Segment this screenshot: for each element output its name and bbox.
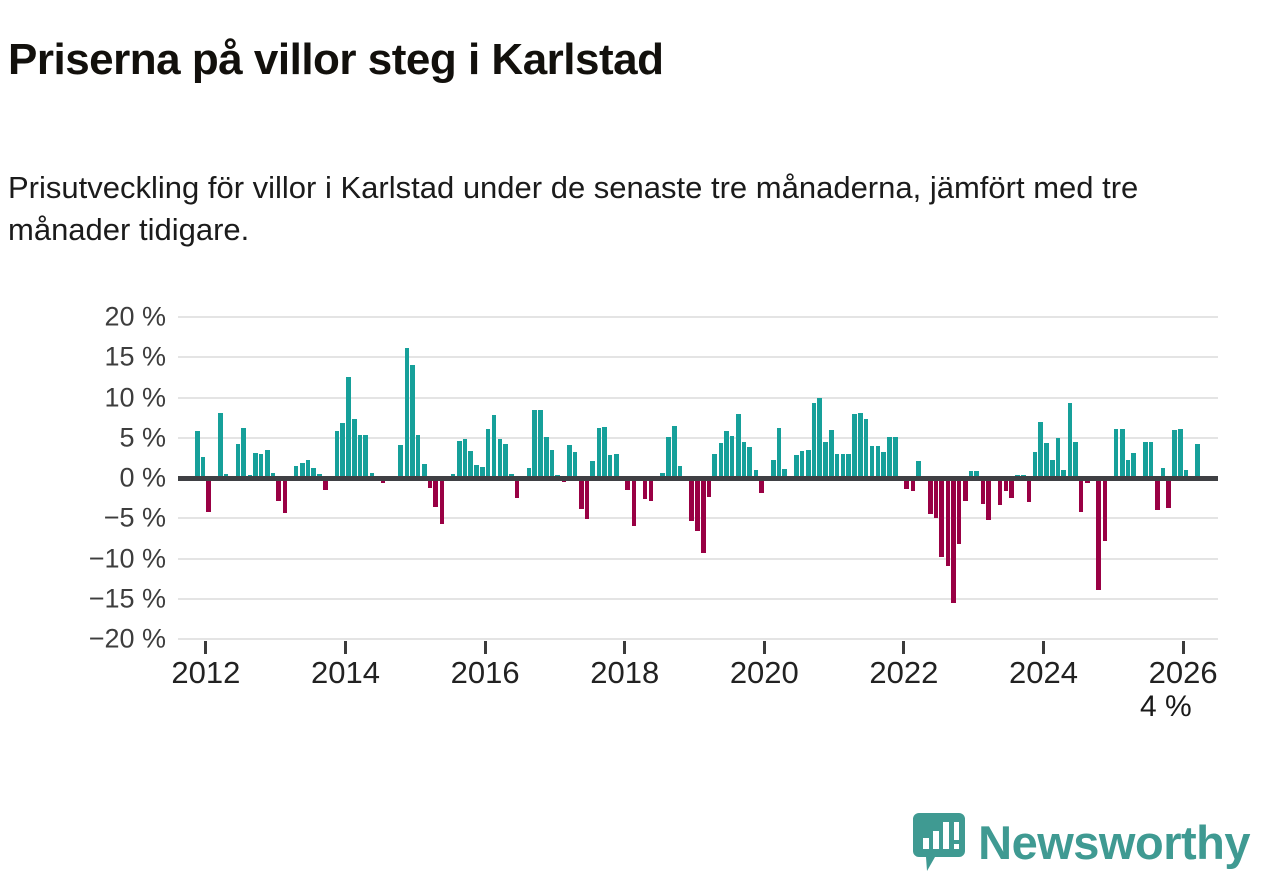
- bar: [486, 429, 491, 478]
- bar: [544, 437, 549, 478]
- bar: [1033, 452, 1038, 478]
- bar: [742, 442, 747, 478]
- bar: [666, 437, 671, 478]
- bar: [433, 478, 438, 507]
- bar: [986, 478, 991, 520]
- bar: [410, 365, 415, 478]
- bar: [934, 478, 939, 518]
- y-axis-tick-label: 0 %: [16, 463, 166, 494]
- bar: [416, 435, 421, 478]
- x-axis-tick: [344, 641, 347, 654]
- bar: [881, 452, 886, 478]
- bar: [398, 445, 403, 478]
- x-axis-tick-label: 2016: [425, 655, 545, 691]
- bar-chart-speech-bubble-icon: [913, 813, 965, 871]
- bar: [352, 419, 357, 478]
- bar: [602, 427, 607, 478]
- bar: [829, 430, 834, 478]
- bar: [463, 439, 468, 478]
- bar: [695, 478, 700, 531]
- bar: [981, 478, 986, 504]
- bar: [812, 403, 817, 478]
- x-axis-tick: [623, 641, 626, 654]
- y-axis-tick-label: −10 %: [16, 543, 166, 574]
- bar: [672, 426, 677, 478]
- plot-area: [178, 317, 1218, 639]
- bar: [1056, 438, 1061, 478]
- bar: [724, 431, 729, 478]
- x-axis-tick-label: 2012: [146, 655, 266, 691]
- x-axis-tick-label: 2020: [704, 655, 824, 691]
- last-value-annotation: 4 %: [1136, 690, 1196, 724]
- bar: [823, 442, 828, 478]
- bar: [405, 348, 410, 478]
- x-axis-tick-label: 2024: [984, 655, 1104, 691]
- x-axis-tick-label: 2014: [286, 655, 406, 691]
- zero-axis-line: [178, 476, 1218, 481]
- x-axis-tick-label: 2022: [844, 655, 964, 691]
- bar: [241, 428, 246, 478]
- bar: [253, 453, 258, 478]
- bar: [719, 443, 724, 478]
- bar: [800, 451, 805, 478]
- bar: [585, 478, 590, 519]
- bar: [876, 446, 881, 478]
- bar: [998, 478, 1003, 505]
- bar: [218, 413, 223, 478]
- bar: [649, 478, 654, 501]
- bar: [1079, 478, 1084, 512]
- y-axis-tick-label: −20 %: [16, 624, 166, 655]
- bar: [846, 454, 851, 478]
- bar: [363, 435, 368, 478]
- bar: [468, 451, 473, 478]
- bar: [806, 450, 811, 478]
- x-axis-tick: [484, 641, 487, 654]
- bar: [567, 445, 572, 478]
- bar: [206, 478, 211, 512]
- bar: [963, 478, 968, 501]
- bar: [276, 478, 281, 501]
- bar: [532, 410, 537, 478]
- page-title: Priserna på villor steg i Karlstad: [8, 35, 1188, 85]
- bar: [643, 478, 648, 499]
- bar: [538, 410, 543, 478]
- x-axis-tick: [204, 641, 207, 654]
- bar: [1120, 429, 1125, 478]
- bar: [1044, 443, 1049, 478]
- bar: [503, 444, 508, 478]
- y-axis-tick-label: 10 %: [16, 382, 166, 413]
- x-axis-tick-label: 2018: [565, 655, 685, 691]
- bar: [1131, 453, 1136, 478]
- bar: [515, 478, 520, 498]
- bar: [1155, 478, 1160, 510]
- bar: [730, 436, 735, 478]
- bar: [550, 450, 555, 478]
- bar: [340, 423, 345, 478]
- bar: [1038, 422, 1043, 478]
- bar: [1195, 444, 1200, 478]
- x-axis-tick-label: 2026: [1123, 655, 1243, 691]
- bar: [841, 454, 846, 478]
- bar: [457, 441, 462, 478]
- bar: [946, 478, 951, 566]
- bar: [259, 454, 264, 478]
- bar: [632, 478, 637, 525]
- bar: [1009, 478, 1014, 498]
- bar: [1027, 478, 1032, 502]
- x-axis-tick: [1182, 641, 1185, 654]
- bar: [870, 446, 875, 478]
- bar: [265, 450, 270, 478]
- bar: [835, 454, 840, 478]
- bar: [777, 428, 782, 478]
- bar: [597, 428, 602, 478]
- bar: [712, 454, 717, 478]
- bar: [1096, 478, 1101, 590]
- bar: [346, 377, 351, 478]
- bar: [858, 413, 863, 478]
- chart-subtitle: Prisutveckling för villor i Karlstad und…: [8, 167, 1198, 250]
- bar: [1149, 442, 1154, 478]
- bar: [1068, 403, 1073, 478]
- bar: [492, 415, 497, 478]
- bar: [893, 437, 898, 478]
- bar: [864, 419, 869, 478]
- y-axis-tick-label: 20 %: [16, 302, 166, 333]
- bar: [1073, 442, 1078, 478]
- bar: [707, 478, 712, 497]
- bar: [608, 455, 613, 478]
- bar: [573, 452, 578, 478]
- bar: [1103, 478, 1108, 541]
- bar: [736, 414, 741, 478]
- bar: [195, 431, 200, 478]
- bar: [701, 478, 706, 553]
- newsworthy-logo: Newsworthy: [913, 813, 1250, 871]
- bar-chart: 20 %15 %10 %5 %0 %−5 %−10 %−15 %−20 % 20…: [0, 295, 1262, 715]
- bar: [928, 478, 933, 514]
- bar: [689, 478, 694, 521]
- bar: [358, 435, 363, 478]
- bar: [1166, 478, 1171, 508]
- logo-wordmark: Newsworthy: [978, 819, 1250, 866]
- x-axis-tick: [1042, 641, 1045, 654]
- bar: [440, 478, 445, 524]
- bar: [335, 431, 340, 478]
- bar: [747, 447, 752, 478]
- y-axis-tick-label: 5 %: [16, 422, 166, 453]
- bar: [614, 454, 619, 478]
- bar: [939, 478, 944, 557]
- bar: [887, 437, 892, 478]
- bar: [1114, 429, 1119, 478]
- bar: [498, 439, 503, 478]
- bar: [852, 414, 857, 478]
- y-axis-tick-label: −5 %: [16, 503, 166, 534]
- bar: [236, 444, 241, 478]
- x-axis-tick: [902, 641, 905, 654]
- bar: [1172, 430, 1177, 478]
- y-axis-tick-label: 15 %: [16, 342, 166, 373]
- y-axis-tick-label: −15 %: [16, 583, 166, 614]
- bar: [1178, 429, 1183, 478]
- bar: [283, 478, 288, 513]
- bar: [951, 478, 956, 603]
- bar: [1143, 442, 1148, 478]
- bar: [817, 398, 822, 478]
- bar: [957, 478, 962, 544]
- chart-page: Priserna på villor steg i Karlstad Prisu…: [0, 0, 1262, 879]
- x-axis-tick: [763, 641, 766, 654]
- bar: [579, 478, 584, 509]
